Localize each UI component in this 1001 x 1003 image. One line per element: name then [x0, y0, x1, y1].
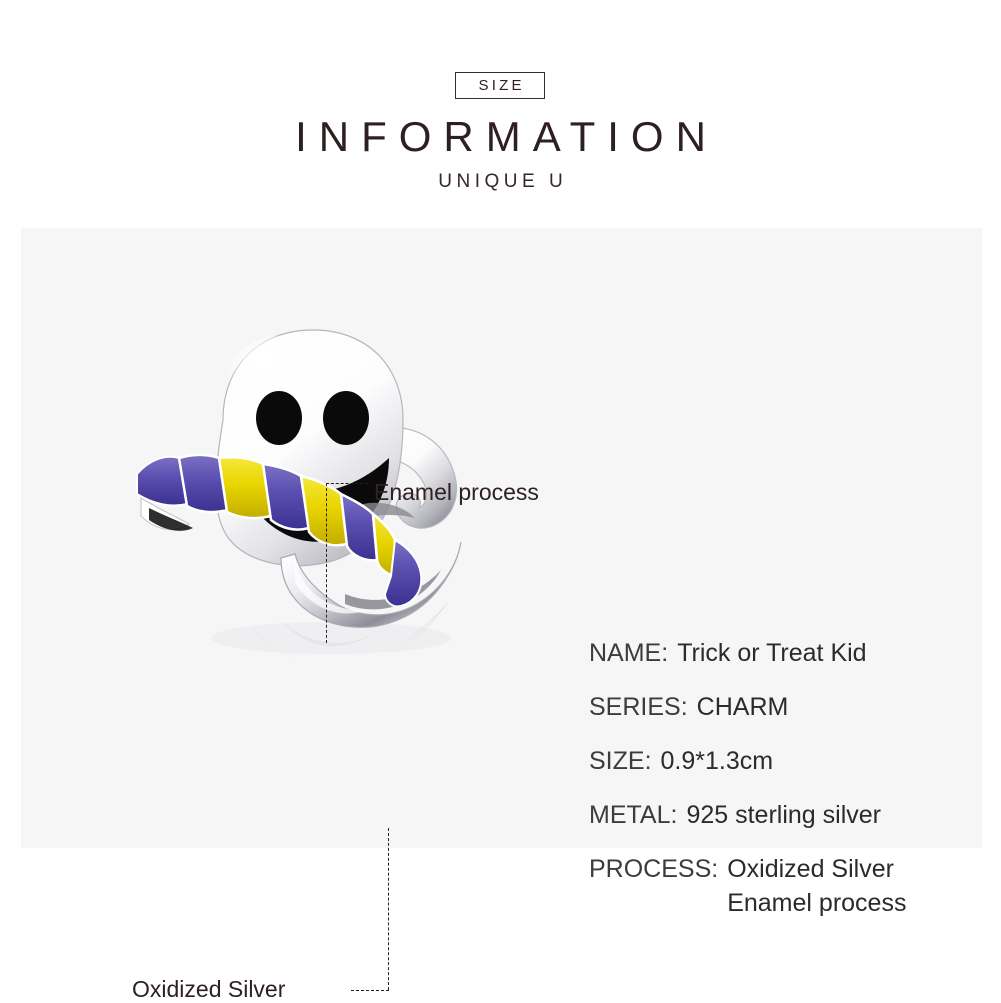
oxidized-leader-vertical	[388, 828, 389, 990]
spec-label-metal: METAL:	[589, 798, 677, 832]
oxidized-leader-horizontal	[351, 990, 389, 991]
size-badge: SIZE	[455, 72, 545, 99]
spec-value-name: Trick or Treat Kid	[677, 636, 866, 670]
ghost-right-eye	[323, 391, 369, 445]
spec-label-process: PROCESS:	[589, 852, 718, 886]
page-title: INFORMATION	[0, 112, 1001, 162]
spec-row-name: NAME: Trick or Treat Kid	[589, 636, 989, 670]
specification-list: NAME: Trick or Treat Kid SERIES: CHARM S…	[589, 636, 989, 940]
callout-label-enamel-process: Enamel process	[374, 478, 539, 506]
scarf-tassel-shadow	[149, 508, 193, 531]
spec-label-name: NAME:	[589, 636, 668, 670]
spec-value-size: 0.9*1.3cm	[661, 744, 774, 778]
product-image	[131, 308, 551, 788]
spec-value-series: CHARM	[697, 690, 789, 724]
spec-value-process-line1: Oxidized Silver	[727, 852, 906, 886]
callout-label-oxidized-silver: Oxidized Silver	[132, 975, 285, 1003]
page-header: SIZE INFORMATION UNIQUE U	[0, 0, 1001, 228]
content-panel: Enamel process Oxidized Silver NAME: Tri…	[21, 228, 982, 848]
size-badge-label: SIZE	[475, 77, 524, 94]
spec-value-metal: 925 sterling silver	[686, 798, 881, 832]
spec-value-process-line2: Enamel process	[727, 886, 906, 920]
enamel-leader-vertical	[326, 483, 327, 643]
spec-row-size: SIZE: 0.9*1.3cm	[589, 744, 989, 778]
spec-value-process-block: Oxidized Silver Enamel process	[727, 852, 906, 920]
spec-row-process: PROCESS: Oxidized Silver Enamel process	[589, 852, 989, 920]
spec-label-series: SERIES:	[589, 690, 688, 724]
ghost-charm-illustration	[131, 308, 551, 788]
ghost-left-eye	[256, 391, 302, 445]
page-subtitle: UNIQUE U	[0, 170, 1001, 194]
spec-row-series: SERIES: CHARM	[589, 690, 989, 724]
spec-row-metal: METAL: 925 sterling silver	[589, 798, 989, 832]
spec-label-size: SIZE:	[589, 744, 652, 778]
enamel-leader-horizontal	[326, 483, 368, 484]
